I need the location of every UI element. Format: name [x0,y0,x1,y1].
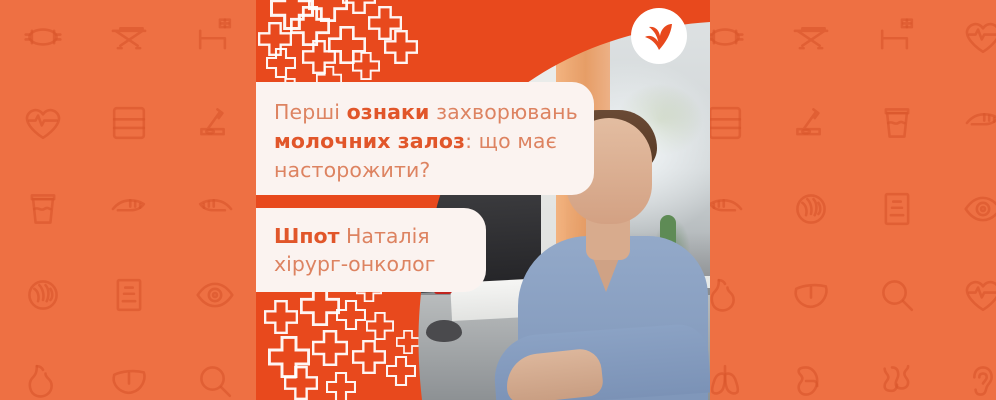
title-line-3: насторожити? [274,156,576,185]
heart-pulse-icon [940,252,996,338]
medical-icon-grid [0,0,258,400]
computer-mouse [426,320,462,342]
brain-scan-icon [768,166,854,252]
cross-icon [352,52,380,84]
urine-sample-cup-icon [854,80,940,166]
title-plain-1: Перші [274,100,347,124]
face-mask-icon [710,0,768,80]
stretcher-icon [768,0,854,80]
leaf-flame-icon [642,19,676,53]
cross-icon [336,300,366,334]
cross-icon [308,0,348,26]
liver-icon [86,338,172,400]
cross-icon [290,6,330,50]
title-card: Перші ознаки захворювань молочних залоз:… [256,82,594,195]
title-plain-3: : що має [465,129,557,153]
cross-icon [270,0,314,34]
title-bold-1: ознаки [347,100,430,124]
title-plain-4: насторожити? [274,158,430,182]
cross-icon [384,30,418,68]
background-pattern-left [0,0,258,400]
speaker-surname: Шпот [274,224,339,248]
stomach-icon [710,252,768,338]
magnifier-icon [172,338,258,400]
speaker-name-line: Шпот Наталія [274,222,468,250]
cross-icon [326,372,356,400]
eye-chart-icon [86,252,172,338]
eye-icon [172,252,258,338]
urine-sample-cup-icon [0,166,86,252]
magnifier-icon [854,252,940,338]
cross-icon [396,330,420,358]
cross-icon [266,48,296,82]
speaker-given-name: Наталія [339,224,429,248]
microscope-slide-icon [172,80,258,166]
stomach-icon [0,338,86,400]
face-mask-icon [0,0,86,80]
cross-icon [366,312,394,344]
title-line-1: Перші ознаки захворювань [274,98,576,127]
cross-icon [312,330,348,370]
cross-icon [268,336,310,382]
cross-icon [284,366,318,400]
background-pattern-right [710,0,996,400]
cross-icon [302,40,336,78]
heart-pulse-icon [940,0,996,80]
cross-icon [386,356,416,390]
ear-icon [940,338,996,400]
speaker-card: Шпот Наталія хірург-онколог [256,208,486,292]
lungs-icon [710,338,768,400]
center-panel: Перші ознаки захворювань молочних залоз:… [256,0,710,400]
title-line-2: молочних залоз: що має [274,127,576,156]
microscope-slide-icon [768,80,854,166]
kidney-icon [768,338,854,400]
clinic-logo[interactable] [631,8,687,64]
cross-icon [368,6,402,44]
eye-chart-icon [854,166,940,252]
hand-right-icon [940,80,996,166]
cross-icon [300,286,340,330]
speaker-role: хірург-онколог [274,250,468,278]
title-plain-2: захворювань [430,100,578,124]
medical-icon-grid [710,0,996,400]
brain-scan-icon [0,252,86,338]
video-thumbnail: Перші ознаки захворювань молочних залоз:… [0,0,996,400]
intestine-icon [854,338,940,400]
xray-film-icon [710,80,768,166]
cross-icon [352,340,386,378]
hospital-bed-icon [172,0,258,80]
xray-film-icon [86,80,172,166]
cross-icon [328,26,366,68]
hand-right-icon [86,166,172,252]
eye-icon [940,166,996,252]
liver-icon [768,252,854,338]
title-bold-2: молочних залоз [274,129,465,153]
hospital-bed-icon [854,0,940,80]
stretcher-icon [86,0,172,80]
cross-icon [264,300,298,338]
cross-icon [258,22,292,60]
cross-icon [342,0,376,18]
hand-left-icon [172,166,258,252]
heart-pulse-icon [0,80,86,166]
hand-left-icon [710,166,768,252]
